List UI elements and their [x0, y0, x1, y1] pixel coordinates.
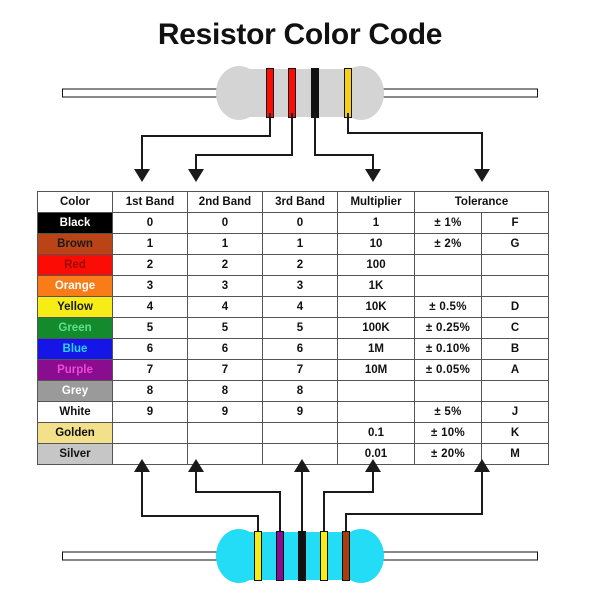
- resistor-code-table: Color 1st Band 2nd Band 3rd Band Multipl…: [37, 191, 549, 465]
- table-row: Black0001± 1%F: [38, 213, 549, 234]
- bottom-resistor-band-1: [254, 531, 262, 581]
- cell-color-orange: Orange: [38, 276, 113, 297]
- cell-tolerance-letter: D: [482, 297, 549, 318]
- cell-tolerance-letter: A: [482, 360, 549, 381]
- cell-tolerance-value: ± 0.25%: [415, 318, 482, 339]
- cell-multiplier: 10K: [338, 297, 415, 318]
- cell-band2: 3: [188, 276, 263, 297]
- cell-color-purple: Purple: [38, 360, 113, 381]
- cell-multiplier: 10: [338, 234, 415, 255]
- bottom-resistor-diagram: [0, 525, 600, 587]
- cell-band1: 5: [113, 318, 188, 339]
- cell-multiplier: 1M: [338, 339, 415, 360]
- cell-tolerance-letter: K: [482, 423, 549, 444]
- table-body: Black0001± 1%FBrown11110± 2%GRed222100Or…: [38, 213, 549, 465]
- header-tolerance: Tolerance: [415, 192, 549, 213]
- cell-band2: 0: [188, 213, 263, 234]
- cell-band3: 0: [263, 213, 338, 234]
- cell-color-blue: Blue: [38, 339, 113, 360]
- cell-tolerance-value: ± 0.5%: [415, 297, 482, 318]
- cell-band3: 3: [263, 276, 338, 297]
- cell-tolerance-value: ± 10%: [415, 423, 482, 444]
- cell-band1: 9: [113, 402, 188, 423]
- cell-tolerance-value: ± 0.05%: [415, 360, 482, 381]
- cell-color-black: Black: [38, 213, 113, 234]
- table-row: Green555100K± 0.25%C: [38, 318, 549, 339]
- table-row: Red222100: [38, 255, 549, 276]
- table-row: Silver0.01± 20%M: [38, 444, 549, 465]
- cell-band3: 5: [263, 318, 338, 339]
- top-resistor-band-4: [344, 68, 352, 118]
- cell-tolerance-value: [415, 381, 482, 402]
- table-header-row: Color 1st Band 2nd Band 3rd Band Multipl…: [38, 192, 549, 213]
- cell-tolerance-letter: G: [482, 234, 549, 255]
- header-band3: 3rd Band: [263, 192, 338, 213]
- cell-tolerance-value: ± 1%: [415, 213, 482, 234]
- cell-band2: [188, 423, 263, 444]
- table-row: Blue6661M± 0.10%B: [38, 339, 549, 360]
- bottom-resistor-band-3: [298, 531, 306, 581]
- cell-tolerance-letter: J: [482, 402, 549, 423]
- top-resistor-band-2: [288, 68, 296, 118]
- cell-band1: 2: [113, 255, 188, 276]
- cell-band3: 9: [263, 402, 338, 423]
- cell-tolerance-value: ± 5%: [415, 402, 482, 423]
- cell-band1: 3: [113, 276, 188, 297]
- top-resistor-body: [239, 69, 361, 117]
- cell-band3: 1: [263, 234, 338, 255]
- cell-tolerance-letter: C: [482, 318, 549, 339]
- table-row: Grey888: [38, 381, 549, 402]
- bottom-resistor-lead-left: [62, 552, 237, 561]
- cell-band2: 6: [188, 339, 263, 360]
- cell-band1: 6: [113, 339, 188, 360]
- cell-tolerance-value: ± 20%: [415, 444, 482, 465]
- cell-tolerance-letter: [482, 381, 549, 402]
- bottom-resistor-lead-right: [363, 552, 538, 561]
- cell-band3: 6: [263, 339, 338, 360]
- cell-band2: 5: [188, 318, 263, 339]
- header-multiplier: Multiplier: [338, 192, 415, 213]
- cell-tolerance-value: [415, 255, 482, 276]
- cell-multiplier: 1K: [338, 276, 415, 297]
- cell-multiplier: 100: [338, 255, 415, 276]
- bottom-resistor-band-5: [342, 531, 350, 581]
- table-row: Golden0.1± 10%K: [38, 423, 549, 444]
- cell-band2: 7: [188, 360, 263, 381]
- cell-color-green: Green: [38, 318, 113, 339]
- cell-tolerance-letter: B: [482, 339, 549, 360]
- cell-color-silver: Silver: [38, 444, 113, 465]
- cell-band2: 2: [188, 255, 263, 276]
- cell-band3: 7: [263, 360, 338, 381]
- header-band1: 1st Band: [113, 192, 188, 213]
- cell-color-white: White: [38, 402, 113, 423]
- cell-multiplier: [338, 381, 415, 402]
- table-row: Orange3331K: [38, 276, 549, 297]
- cell-multiplier: 0.1: [338, 423, 415, 444]
- resistor-color-code-infographic: Resistor Color Code: [0, 0, 600, 600]
- top-resistor-lead-left: [62, 89, 237, 98]
- cell-band1: [113, 423, 188, 444]
- header-band2: 2nd Band: [188, 192, 263, 213]
- cell-tolerance-value: ± 0.10%: [415, 339, 482, 360]
- cell-band1: 8: [113, 381, 188, 402]
- cell-tolerance-value: ± 2%: [415, 234, 482, 255]
- cell-multiplier: 10M: [338, 360, 415, 381]
- cell-band1: 1: [113, 234, 188, 255]
- top-resistor-band-3: [311, 68, 319, 118]
- table-row: Purple77710M± 0.05%A: [38, 360, 549, 381]
- cell-tolerance-value: [415, 276, 482, 297]
- cell-color-yellow: Yellow: [38, 297, 113, 318]
- top-resistor-diagram: [0, 62, 600, 124]
- cell-multiplier: 100K: [338, 318, 415, 339]
- cell-tolerance-letter: [482, 255, 549, 276]
- bottom-resistor-band-2: [276, 531, 284, 581]
- top-resistor-band-1: [266, 68, 274, 118]
- cell-color-brown: Brown: [38, 234, 113, 255]
- cell-band1: 0: [113, 213, 188, 234]
- cell-band3: [263, 423, 338, 444]
- cell-band2: 9: [188, 402, 263, 423]
- page-title: Resistor Color Code: [0, 18, 600, 52]
- cell-band2: 4: [188, 297, 263, 318]
- cell-band1: 4: [113, 297, 188, 318]
- top-resistor-lead-right: [363, 89, 538, 98]
- table-row: Yellow44410K± 0.5%D: [38, 297, 549, 318]
- bottom-resistor-band-4: [320, 531, 328, 581]
- cell-tolerance-letter: M: [482, 444, 549, 465]
- cell-tolerance-letter: F: [482, 213, 549, 234]
- cell-band1: 7: [113, 360, 188, 381]
- table-row: Brown11110± 2%G: [38, 234, 549, 255]
- header-color: Color: [38, 192, 113, 213]
- cell-band3: 4: [263, 297, 338, 318]
- cell-tolerance-letter: [482, 276, 549, 297]
- cell-color-grey: Grey: [38, 381, 113, 402]
- cell-color-golden: Golden: [38, 423, 113, 444]
- cell-band3: 2: [263, 255, 338, 276]
- cell-band2: 1: [188, 234, 263, 255]
- cell-multiplier: 1: [338, 213, 415, 234]
- cell-multiplier: [338, 402, 415, 423]
- cell-band2: 8: [188, 381, 263, 402]
- table-row: White999± 5%J: [38, 402, 549, 423]
- cell-band1: [113, 444, 188, 465]
- cell-color-red: Red: [38, 255, 113, 276]
- cell-band3: 8: [263, 381, 338, 402]
